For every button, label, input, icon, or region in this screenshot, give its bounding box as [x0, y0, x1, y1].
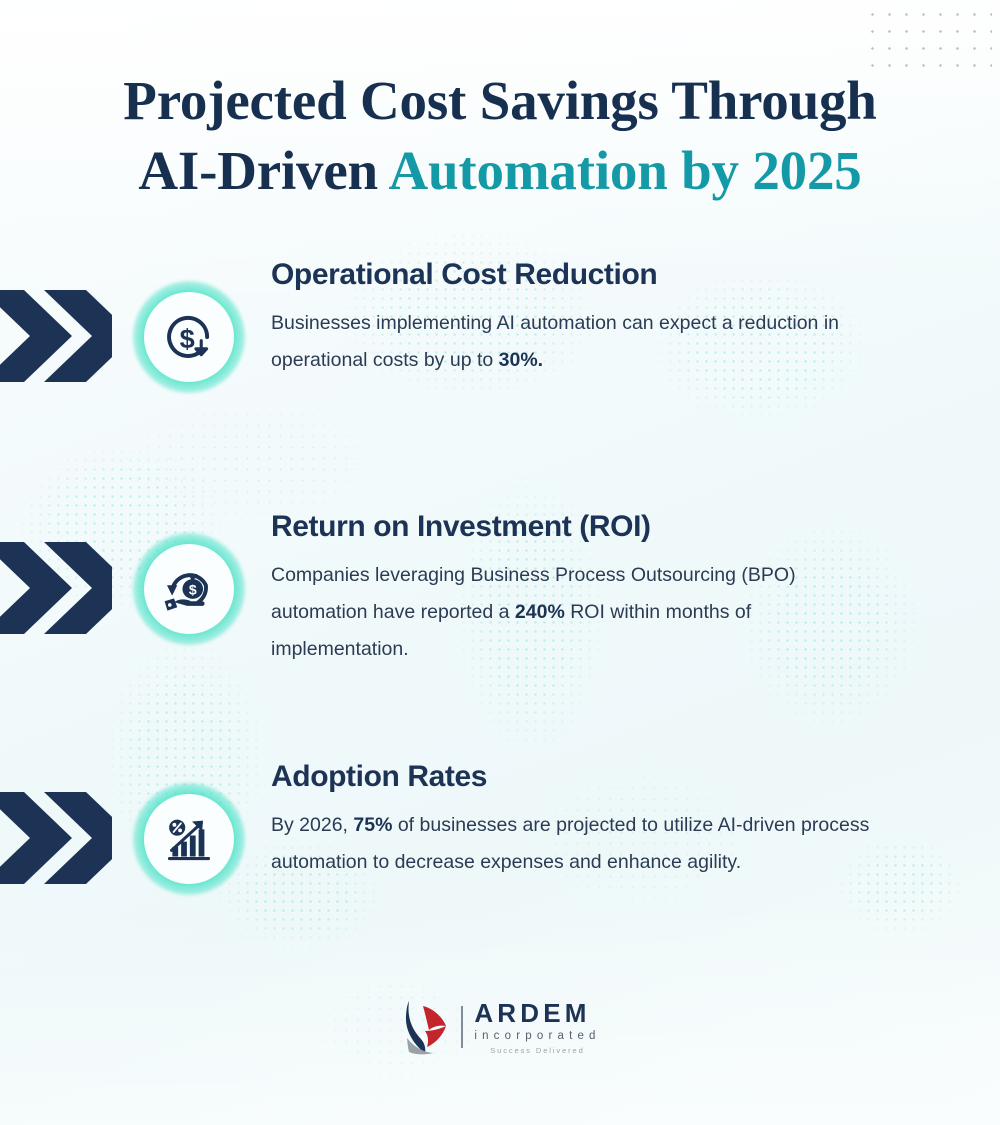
- icon-badge: [133, 783, 245, 895]
- body-stat: 30%.: [499, 349, 543, 371]
- icon-badge-disc: $: [144, 292, 234, 382]
- section-body: By 2026, 75% of businesses are projected…: [271, 807, 891, 881]
- icon-badge: $: [133, 533, 245, 645]
- page-title: Projected Cost Savings Through AI-Driven…: [0, 66, 1000, 206]
- section-text-block: Return on Investment (ROI) Companies lev…: [271, 510, 891, 668]
- logo-text-block: ARDEM incorporated Success Delivered: [474, 1000, 600, 1055]
- double-chevron-right-icon: [0, 540, 112, 636]
- ardem-logo: ARDEM incorporated Success Delivered: [0, 998, 1000, 1056]
- ardem-logo-mark: [399, 998, 455, 1056]
- page-title-line-2-prefix: AI-Driven: [138, 140, 388, 201]
- hand-money-bag-return-icon: $: [159, 559, 219, 619]
- corner-dot-grid-decoration: [864, 6, 992, 74]
- icon-badge-disc: [144, 794, 234, 884]
- page-title-line-2: AI-Driven Automation by 2025: [0, 136, 1000, 206]
- body-span: Businesses implementing AI automation ca…: [271, 312, 839, 371]
- section-text-block: Operational Cost Reduction Businesses im…: [271, 258, 891, 379]
- svg-text:$: $: [180, 323, 195, 354]
- icon-badge-disc: $: [144, 544, 234, 634]
- section-body: Companies leveraging Business Process Ou…: [271, 557, 891, 668]
- section-return-on-investment: $ Return on Investment (ROI) Companies l…: [0, 510, 1000, 680]
- logo-name: ARDEM: [474, 1000, 590, 1026]
- dollar-circular-arrow-down-icon: $: [160, 308, 218, 366]
- section-heading: Return on Investment (ROI): [271, 510, 891, 543]
- bar-chart-growth-percent-icon: [161, 811, 217, 867]
- body-span: By 2026,: [271, 814, 353, 836]
- logo-divider: [461, 1006, 463, 1048]
- section-body: Businesses implementing AI automation ca…: [271, 305, 891, 379]
- section-text-block: Adoption Rates By 2026, 75% of businesse…: [271, 760, 891, 881]
- section-heading: Operational Cost Reduction: [271, 258, 891, 291]
- section-adoption-rates: Adoption Rates By 2026, 75% of businesse…: [0, 760, 1000, 930]
- icon-badge: $: [133, 281, 245, 393]
- section-operational-cost-reduction: $ Operational Cost Reduction Businesses …: [0, 258, 1000, 428]
- logo-subtitle: incorporated: [474, 1031, 600, 1043]
- double-chevron-right-icon: [0, 790, 112, 886]
- page-title-line-1: Projected Cost Savings Through: [0, 66, 1000, 136]
- section-heading: Adoption Rates: [271, 760, 891, 793]
- body-stat: 75%: [353, 814, 392, 836]
- page-title-line-2-accent: Automation by 2025: [388, 140, 861, 201]
- svg-text:$: $: [189, 582, 197, 598]
- double-chevron-right-icon: [0, 288, 112, 384]
- body-stat: 240%: [515, 601, 565, 623]
- logo-tagline: Success Delivered: [490, 1047, 584, 1055]
